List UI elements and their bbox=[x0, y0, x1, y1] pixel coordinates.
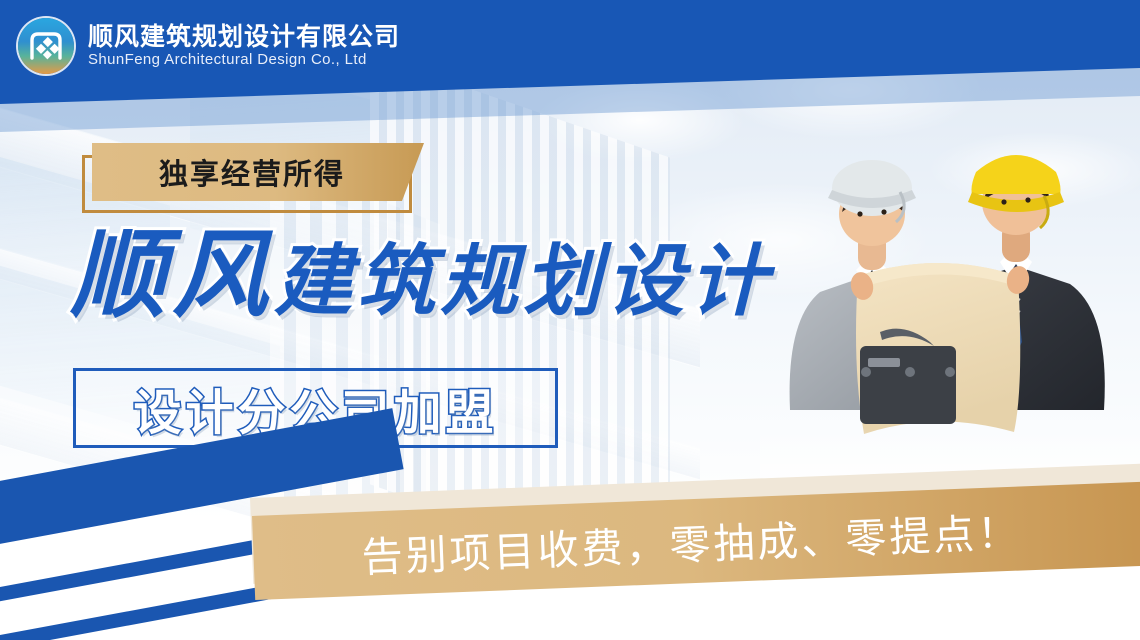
brand-text: 顺风建筑规划设计有限公司 ShunFeng Architectural Desi… bbox=[88, 23, 400, 69]
hero-headline: 顺风 建筑规划设计 bbox=[70, 228, 772, 324]
engineers-illustration bbox=[760, 80, 1140, 500]
ribbon-label: 告别项目收费，零抽成、零提点！ bbox=[360, 499, 1022, 584]
headline-primary: 顺风 bbox=[70, 228, 274, 324]
headline-secondary: 建筑规划设计 bbox=[274, 242, 772, 324]
brand-name-cn: 顺风建筑规划设计有限公司 bbox=[88, 23, 400, 51]
brand-logo[interactable]: 顺风建筑规划设计有限公司 ShunFeng Architectural Desi… bbox=[18, 18, 400, 74]
brand-name-en: ShunFeng Architectural Design Co., Ltd bbox=[88, 51, 400, 69]
promo-banner: 顺风建筑规划设计有限公司 ShunFeng Architectural Desi… bbox=[0, 0, 1140, 640]
tag-label: 独享经营所得 bbox=[159, 151, 357, 193]
highlight-tag: 独享经营所得 bbox=[92, 143, 424, 201]
shunfeng-gate-diamond-logo-icon bbox=[18, 18, 74, 74]
